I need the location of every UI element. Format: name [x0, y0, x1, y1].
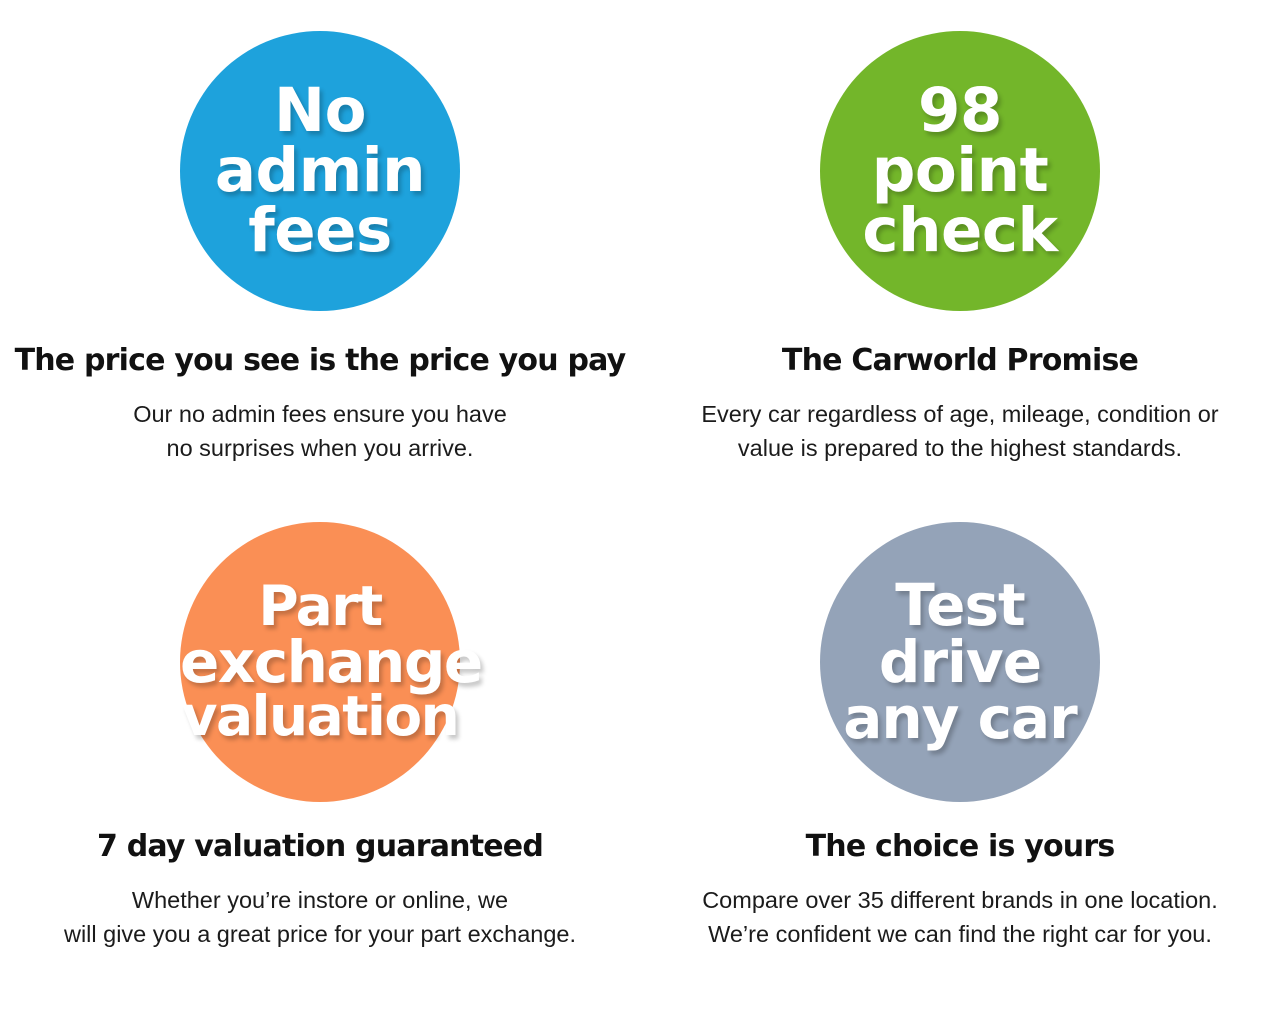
usp-body-line-1: Every car regardless of age, mileage, co… [701, 397, 1218, 432]
badge-line-1: Part [180, 580, 460, 634]
usp-body-line-1: Our no admin fees ensure you have [133, 397, 507, 432]
badge-text: Part exchange valuation [180, 580, 460, 745]
usp-title: The choice is yours [806, 830, 1115, 865]
usp-body-line-2: We’re confident we can find the right ca… [702, 917, 1218, 952]
usp-body: Whether you’re instore or online, we wil… [64, 883, 576, 953]
usp-body-line-1: Whether you’re instore or online, we [64, 883, 576, 918]
badge-line-2: admin [180, 141, 460, 201]
badge-test-drive-any-car: Test drive any car [820, 522, 1100, 802]
usp-card-test-drive-any-car: Test drive any car The choice is yours C… [640, 506, 1280, 1006]
usp-body-line-2: will give you a great price for your par… [64, 917, 576, 952]
usp-card-98-point-check: 98 point check The Carworld Promise Ever… [640, 6, 1280, 506]
badge-line-1: No [180, 81, 460, 141]
usp-body-line-2: value is prepared to the highest standar… [701, 431, 1218, 466]
badge-line-2: drive [820, 634, 1100, 691]
badge-no-admin-fees: No admin fees [180, 31, 460, 311]
badge-text: No admin fees [180, 81, 460, 260]
usp-title: The Carworld Promise [782, 344, 1138, 379]
badge-line-2: exchange [180, 634, 460, 691]
usp-card-no-admin-fees: No admin fees The price you see is the p… [0, 6, 640, 506]
badge-text: Test drive any car [820, 577, 1100, 747]
badge-text: 98 point check [820, 81, 1100, 260]
badge-line-1: Test [820, 577, 1100, 634]
usp-body: Every car regardless of age, mileage, co… [701, 397, 1218, 467]
badge-line-3: fees [180, 201, 460, 261]
usp-card-part-exchange-valuation: Part exchange valuation 7 day valuation … [0, 506, 640, 1006]
usp-grid: No admin fees The price you see is the p… [0, 0, 1280, 1024]
usp-body-line-1: Compare over 35 different brands in one … [702, 883, 1218, 918]
usp-title: 7 day valuation guaranteed [97, 830, 543, 865]
usp-title: The price you see is the price you pay [15, 344, 626, 379]
badge-line-2: point [820, 141, 1100, 201]
usp-body: Our no admin fees ensure you have no sur… [133, 397, 507, 467]
badge-line-3: valuation [180, 690, 460, 744]
badge-line-1: 98 [820, 81, 1100, 141]
badge-line-3: check [820, 201, 1100, 261]
usp-body: Compare over 35 different brands in one … [702, 883, 1218, 953]
badge-line-3: any car [820, 690, 1100, 747]
badge-98-point-check: 98 point check [820, 31, 1100, 311]
usp-body-line-2: no surprises when you arrive. [133, 431, 507, 466]
badge-part-exchange-valuation: Part exchange valuation [180, 522, 460, 802]
